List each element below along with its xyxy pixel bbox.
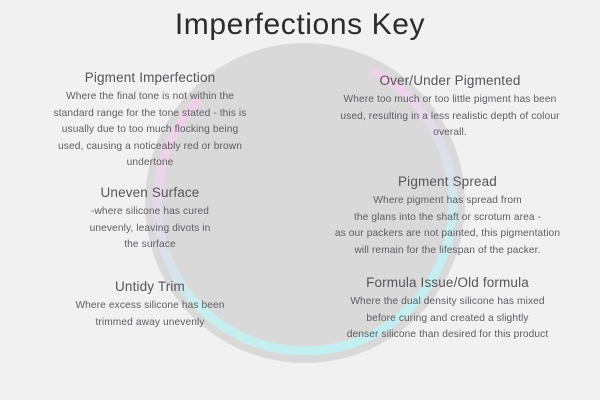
entry-body: Where excess silicone has been trimmed a…	[0, 298, 300, 331]
entry-line: Where the final tone is not within the	[0, 89, 300, 106]
entry-pigment-spread: Pigment Spread Where pigment has spread …	[295, 172, 600, 259]
entry-line: the surface	[0, 237, 300, 254]
entry-line: -where silicone has cured	[0, 204, 300, 221]
entry-body: Where the final tone is not within the s…	[0, 89, 300, 172]
entry-heading: Untidy Trim	[0, 277, 300, 297]
entry-line: the glans into the shaft or scrotum area…	[295, 210, 600, 227]
imperfections-key-page: Imperfections Key Pigment Imperfection W…	[0, 0, 600, 400]
entry-line: before curing and created a slightly	[295, 311, 600, 328]
entry-line: standard range for the tone stated - thi…	[0, 106, 300, 123]
entry-line: unevenly, leaving divots in	[0, 221, 300, 238]
entry-line: Where too much or too little pigment has…	[300, 92, 600, 109]
entry-line: undertone	[0, 155, 300, 172]
entry-line: trimmed away unevenly	[0, 315, 300, 332]
entry-line: Where pigment has spread from	[295, 193, 600, 210]
entry-line: as our packers are not painted, this pig…	[295, 226, 600, 243]
entry-body: -where silicone has cured unevenly, leav…	[0, 204, 300, 254]
entry-heading: Formula Issue/Old formula	[295, 273, 600, 293]
entry-body: Where the dual density silicone has mixe…	[295, 294, 600, 344]
entry-line: overall.	[300, 125, 600, 142]
entry-body: Where too much or too little pigment has…	[300, 92, 600, 142]
entry-body: Where pigment has spread from the glans …	[295, 193, 600, 259]
entry-line: Where excess silicone has been	[0, 298, 300, 315]
entry-line: used, causing a noticeably red or brown	[0, 139, 300, 156]
entry-line: used, resulting in a less realistic dept…	[300, 109, 600, 126]
entry-heading: Pigment Imperfection	[0, 68, 300, 88]
page-title: Imperfections Key	[0, 8, 600, 42]
entry-heading: Uneven Surface	[0, 183, 300, 203]
entry-heading: Over/Under Pigmented	[300, 71, 600, 91]
entry-formula-issue: Formula Issue/Old formula Where the dual…	[295, 273, 600, 344]
entry-line: will remain for the lifespan of the pack…	[295, 243, 600, 260]
entry-untidy-trim: Untidy Trim Where excess silicone has be…	[0, 277, 300, 331]
entry-line: Where the dual density silicone has mixe…	[295, 294, 600, 311]
entry-line: denser silicone than desired for this pr…	[295, 327, 600, 344]
entry-over-under-pigmented: Over/Under Pigmented Where too much or t…	[300, 71, 600, 142]
entry-pigment-imperfection: Pigment Imperfection Where the final ton…	[0, 68, 300, 172]
entry-line: usually due to too much flocking being	[0, 122, 300, 139]
entry-uneven-surface: Uneven Surface -where silicone has cured…	[0, 183, 300, 254]
entry-heading: Pigment Spread	[295, 172, 600, 192]
